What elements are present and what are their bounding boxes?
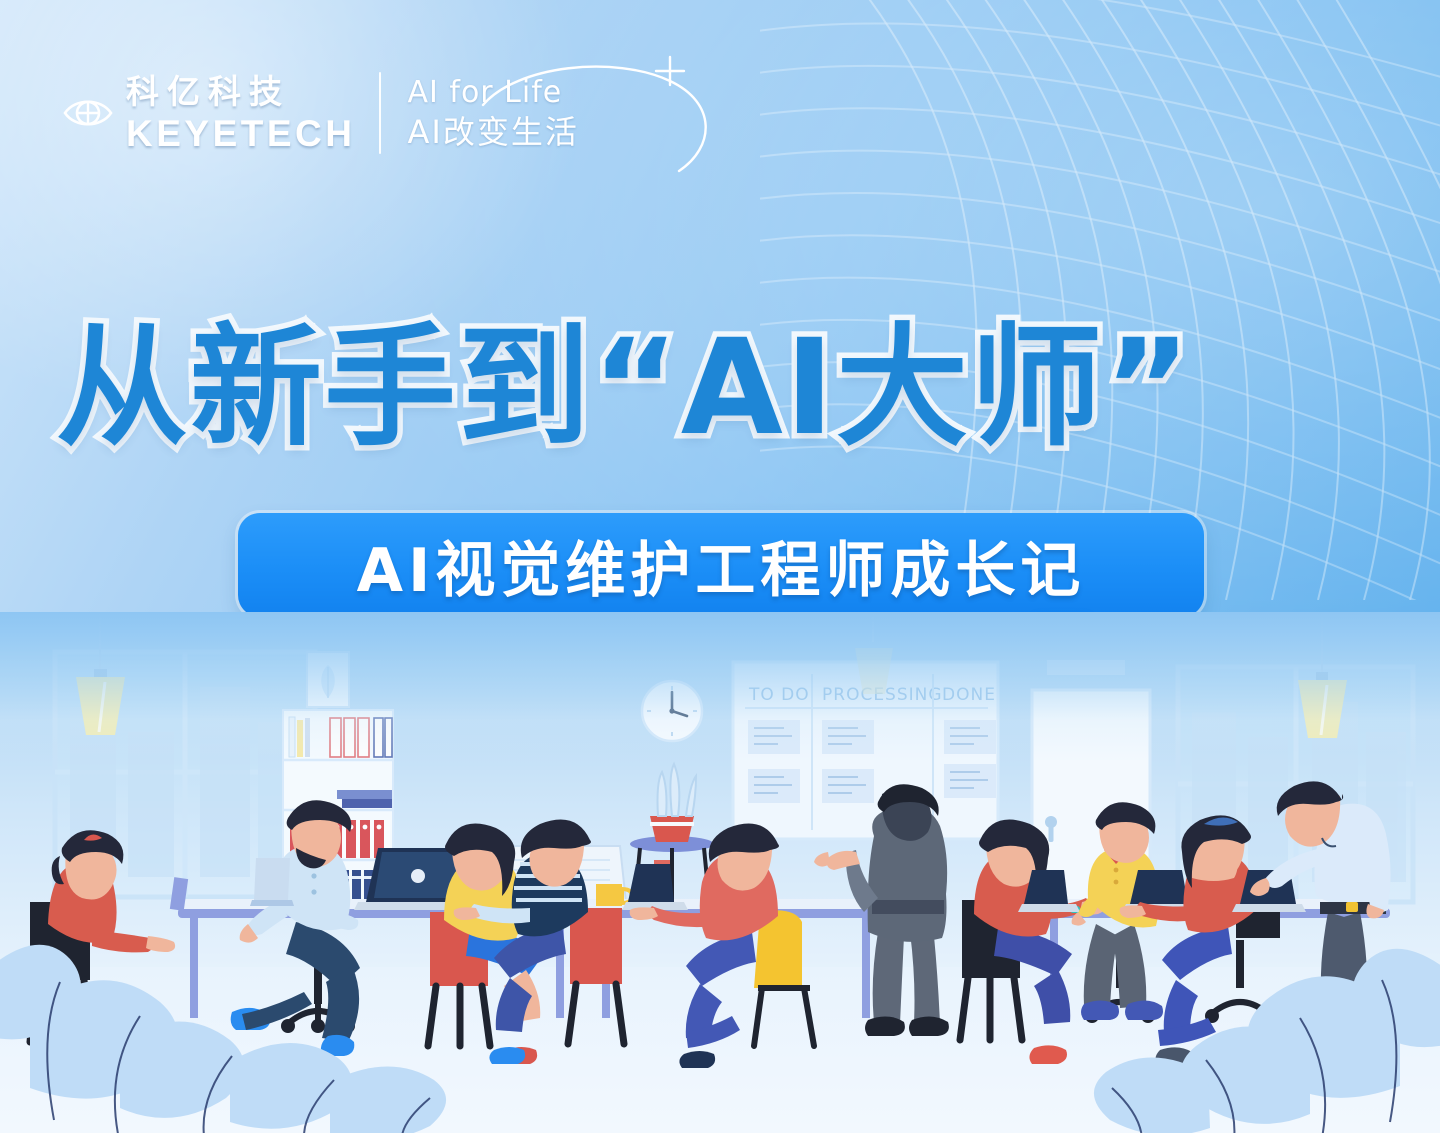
brand-name-en: KEYETECH [126,115,355,152]
brand-names: 科亿科技 KEYETECH [126,75,355,152]
brand-name-cn: 科亿科技 [126,75,355,108]
svg-text:DONE: DONE [942,685,996,705]
office-illustration: TO DO PROCESSING DONE [0,612,1440,1133]
brand-identity: 科亿科技 KEYETECH [62,75,355,152]
brand-divider [379,72,381,154]
brand-slogan: AI for Life AI改变生活 [407,77,578,150]
brand-lockup: 科亿科技 KEYETECH AI for Life AI改变生活 [62,72,579,154]
poster-canvas: 科亿科技 KEYETECH AI for Life AI改变生活 从新手到“AI… [0,0,1440,1133]
page-title: 从新手到“AI大师” [56,322,1396,454]
slogan-en: AI for Life [407,77,578,109]
eye-icon [62,87,114,139]
subtitle-text: AI视觉维护工程师成长记 [357,522,1086,609]
svg-text:TO DO: TO DO [748,685,810,705]
slogan-cn: AI改变生活 [407,115,578,150]
subtitle-banner: AI视觉维护工程师成长记 [238,513,1204,617]
subtitle-banner-body: AI视觉维护工程师成长记 [238,513,1204,617]
mesh-decoration [760,0,1440,600]
